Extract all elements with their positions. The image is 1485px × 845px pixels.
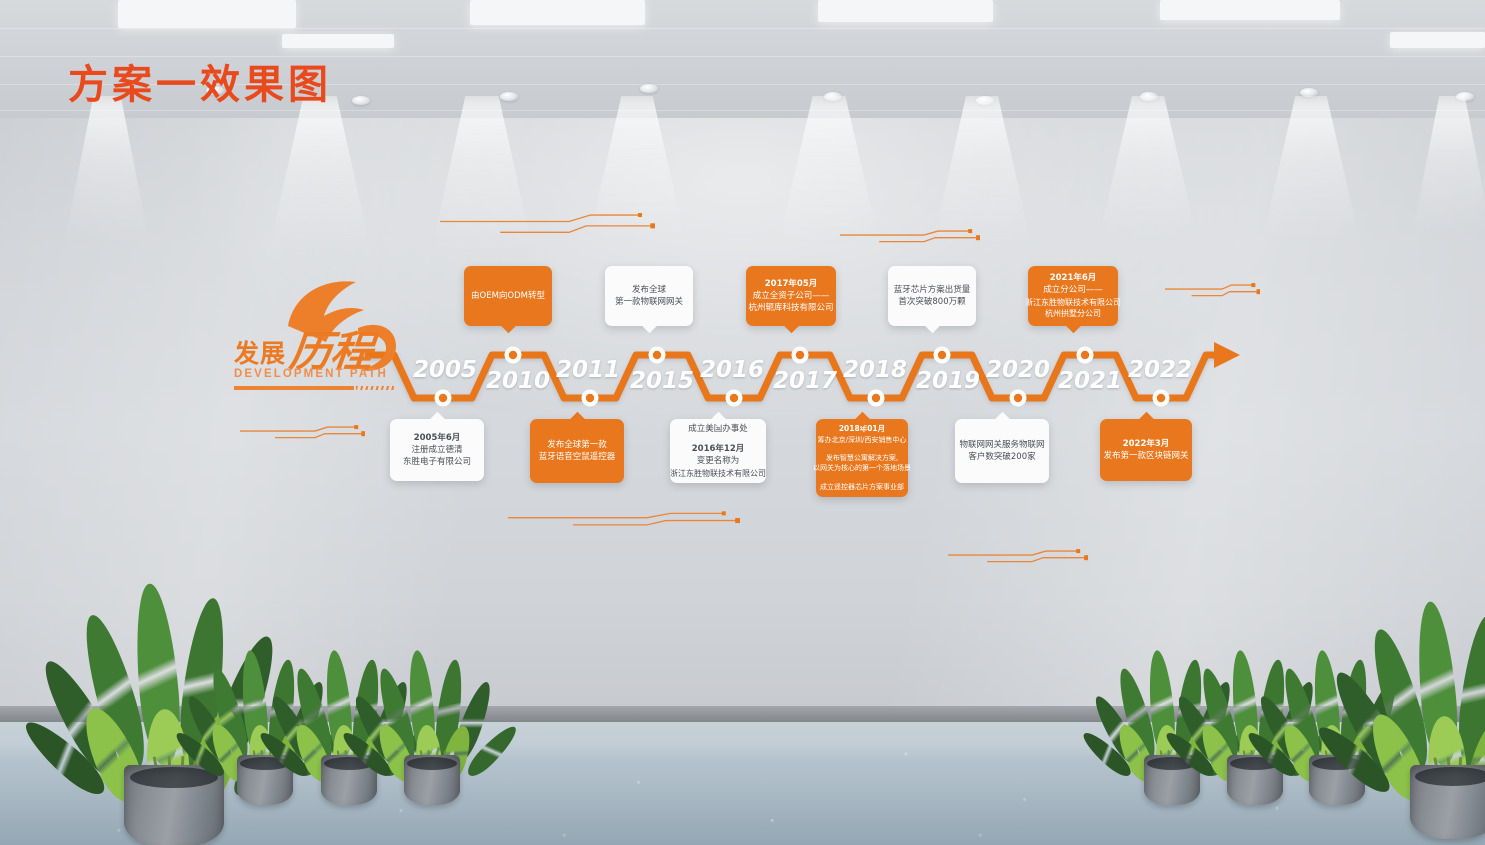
year-label-2015: 2015 [630,368,694,394]
timeline-node-dot [653,351,661,359]
card-text-line: 2017年05月 [765,278,818,290]
year-label-2018: 2018 [843,357,907,383]
year-label-2021: 2021 [1058,368,1122,394]
card-2019[interactable]: 蓝牙芯片方案出货量首次突破800万颗 [888,266,976,326]
card-text-line: 发布第一款区块链网关 [1104,450,1189,462]
card-2021[interactable]: 2021年6月成立分公司——浙江东胜物联技术有限公司杭州拱墅分公司 [1028,266,1118,326]
ceiling-grid-line [0,28,1485,29]
card-text-line: 物联网网关服务物联网 [960,439,1045,451]
timeline-node-dot [1081,351,1089,359]
timeline-node-dot [796,351,804,359]
card-text-line: 发布全球 [632,284,666,296]
year-label-2017: 2017 [773,368,837,394]
card-2016[interactable]: 成立美国办事处2016年12月变更名称为浙江东胜物联技术有限公司 [670,419,766,483]
card-2020[interactable]: 物联网网关服务物联网客户数突破200家 [955,419,1049,483]
year-label-2005: 2005 [413,357,477,383]
timeline-node-dot [509,351,517,359]
year-label-2016: 2016 [700,357,764,383]
card-text-line: 东胜电子有限公司 [403,456,471,468]
card-text-line: 首次突破800万颗 [898,296,965,308]
year-label-2010: 2010 [486,368,550,394]
plant-right-4 [1348,527,1485,839]
card-text-line: 第一款物联网网关 [615,296,683,308]
timeline-node-dot [1014,394,1022,402]
card-2011[interactable]: 发布全球第一款蓝牙语音空鼠遥控器 [530,419,624,483]
card-text-line: 发布智慧公寓解决方案, [826,453,898,463]
card-text-line: 成立全资子公司—— [753,290,830,302]
year-label-2020: 2020 [986,357,1050,383]
decor-bottom [508,510,740,534]
logo-en-text: DEVELOPMENT PATH [234,368,388,380]
timeline-node-dot [730,394,738,402]
downlight-icon [640,84,658,93]
card-text-line: 筹办北京/深圳/西安销售中心 [818,435,907,445]
ceiling-grid-line [0,110,1485,111]
year-label-2019: 2019 [916,368,980,394]
ceiling-light-panel [118,0,296,28]
card-2005[interactable]: 2005年6月注册成立德清东胜电子有限公司 [390,419,484,481]
card-text-line: 成立遥控器芯片方案事业部 [820,482,904,492]
card-text-line: 变更名称为 [697,455,740,467]
card-text-line: 杭州轭库科技有限公司 [749,302,834,314]
logo-cn-prefix: 发展 [234,334,286,370]
timeline-node-dot [938,351,946,359]
year-label-2022: 2022 [1128,357,1192,383]
card-text-line: 浙江东胜物联技术有限公司 [670,468,766,480]
card-2010[interactable]: 由OEM向ODM转型 [464,266,552,326]
card-2015[interactable]: 发布全球第一款物联网网关 [605,266,693,326]
year-label-2011: 2011 [556,357,620,383]
card-text-line: 2021年6月 [1050,272,1097,284]
ceiling-light-panel [282,34,394,48]
card-text-line: 由OEM向ODM转型 [471,290,545,302]
downlight-icon [352,96,370,105]
plant-pot [1410,765,1485,839]
card-text-line: 2016年12月 [692,443,745,455]
page-title: 方案一效果图 [68,52,332,110]
timeline-node-dot [439,394,447,402]
card-text-line: 2005年6月 [414,432,461,444]
downlight-icon [1300,88,1318,97]
card-text-line: 浙江东胜物联技术有限公司 [1025,297,1121,309]
timeline-path [0,180,1485,440]
ceiling-light-panel [1160,0,1340,20]
card-2022[interactable]: 2022年3月发布第一款区块链网关 [1100,419,1192,481]
timeline-node-dot [1157,394,1165,402]
timeline-node-dot [872,394,880,402]
downlight-icon [500,92,518,101]
card-text-line: 成立分公司—— [1043,284,1103,296]
card-text-line: 发布全球第一款 [547,439,607,451]
logo-hatch-marks [356,386,396,390]
card-text-line: 蓝牙语音空鼠遥控器 [539,451,616,463]
ceiling-light-panel [818,0,993,22]
card-2017[interactable]: 2017年05月成立全资子公司——杭州轭库科技有限公司 [746,266,836,326]
card-2018[interactable]: 2018年01月筹办北京/深圳/西安销售中心发布智慧公寓解决方案,以网关为核心的… [816,419,908,497]
ceiling-light-panel [470,0,645,25]
plant-left-4 [363,599,501,805]
card-text-line: 2022年3月 [1123,438,1170,450]
decor-bottom-right [948,548,1088,570]
development-path-logo: 发展 历程 DEVELOPMENT PATH [228,272,433,392]
card-text-line: 蓝牙芯片方案出货量 [894,284,971,296]
card-text-line: 以网关为核心的第一个落地场景 [813,463,911,473]
office-wall-scene: 方案一效果图 发展 历程 DEVELOPMENT PATH 2005201020… [0,0,1485,845]
logo-underline [234,386,354,390]
card-text-line: 客户数突破200家 [968,451,1035,463]
card-text-line: 注册成立德清 [411,444,462,456]
timeline-node-dot [586,394,594,402]
ceiling-light-panel [1390,32,1485,48]
timeline-arrow-icon [1214,342,1240,368]
plant-pot [404,755,460,805]
